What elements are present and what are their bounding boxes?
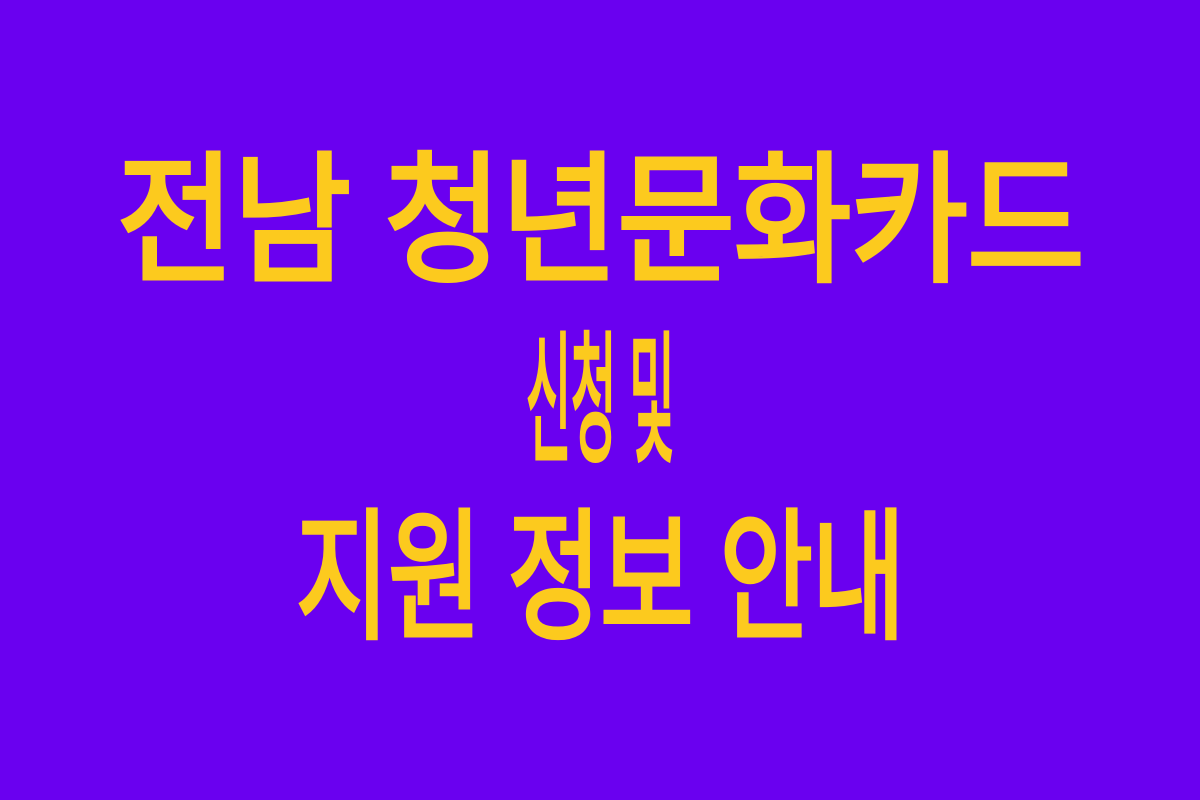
headline-line-2: 신청 및 [390, 328, 810, 476]
headline-line-3: 지원 정보 안내 [170, 504, 1030, 654]
headline-block: 전남 청년문화카드 신청 및 지원 정보 안내 [0, 146, 1200, 654]
promo-banner: 전남 청년문화카드 신청 및 지원 정보 안내 [0, 0, 1200, 800]
headline-line-1: 전남 청년문화카드 [57, 146, 1142, 298]
